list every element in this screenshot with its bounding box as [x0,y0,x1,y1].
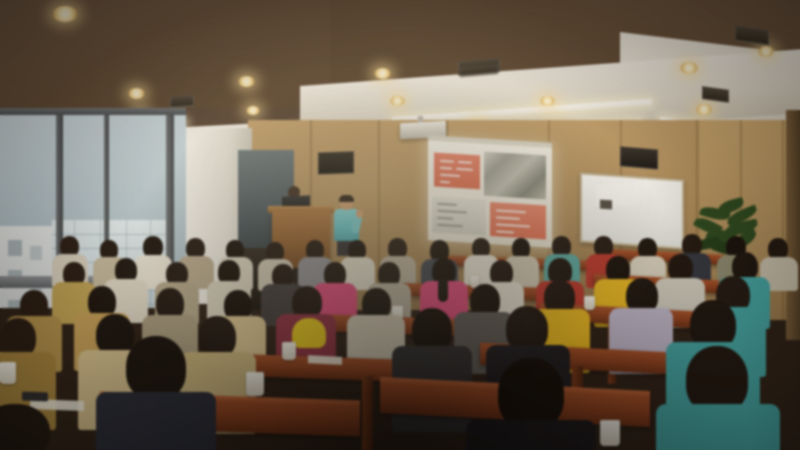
presenter-hand [356,210,363,218]
downlight-icon [246,106,260,115]
slide-block-photo-top-right [484,152,546,200]
paper-cup [282,342,296,360]
wall-speaker-left [318,151,354,174]
slide-block-orange-top-left [434,152,480,189]
ceiling-panel-left [0,0,330,108]
desk-leg [362,376,373,450]
downlight-icon [390,96,405,106]
presenter-hair [339,195,354,202]
paper-cup [0,362,16,384]
downlight-icon [238,76,255,87]
attendee-head [126,336,186,400]
paper-cup [600,420,620,446]
downlight-icon [680,62,698,74]
downlight-icon [696,104,712,115]
paper-cup [246,372,264,396]
wall-corner-right [786,110,800,340]
mobile-phone [22,392,48,402]
slide-block-light-bottom-left [432,196,486,235]
paper-cup [584,296,595,310]
wall-speaker-right [620,146,658,169]
downlight-icon [52,6,78,22]
downlight-icon [128,88,145,99]
handout-paper [308,355,342,365]
slide-block-orange-bottom-right [490,202,546,240]
attendee-yellow-vest [292,318,326,348]
whiteboard-marker-tray [600,200,612,210]
downlight-icon [540,96,555,106]
projection-screen [428,140,552,248]
photo-scene [0,0,800,450]
air-vent [170,95,194,108]
window-frame-top [0,108,186,115]
attendee-torso [96,392,216,450]
attendee-torso [466,420,596,450]
downlight-icon [758,46,774,57]
attendee-torso [656,404,780,450]
downlight-icon [374,68,391,79]
attendee-ponytail [438,278,448,302]
